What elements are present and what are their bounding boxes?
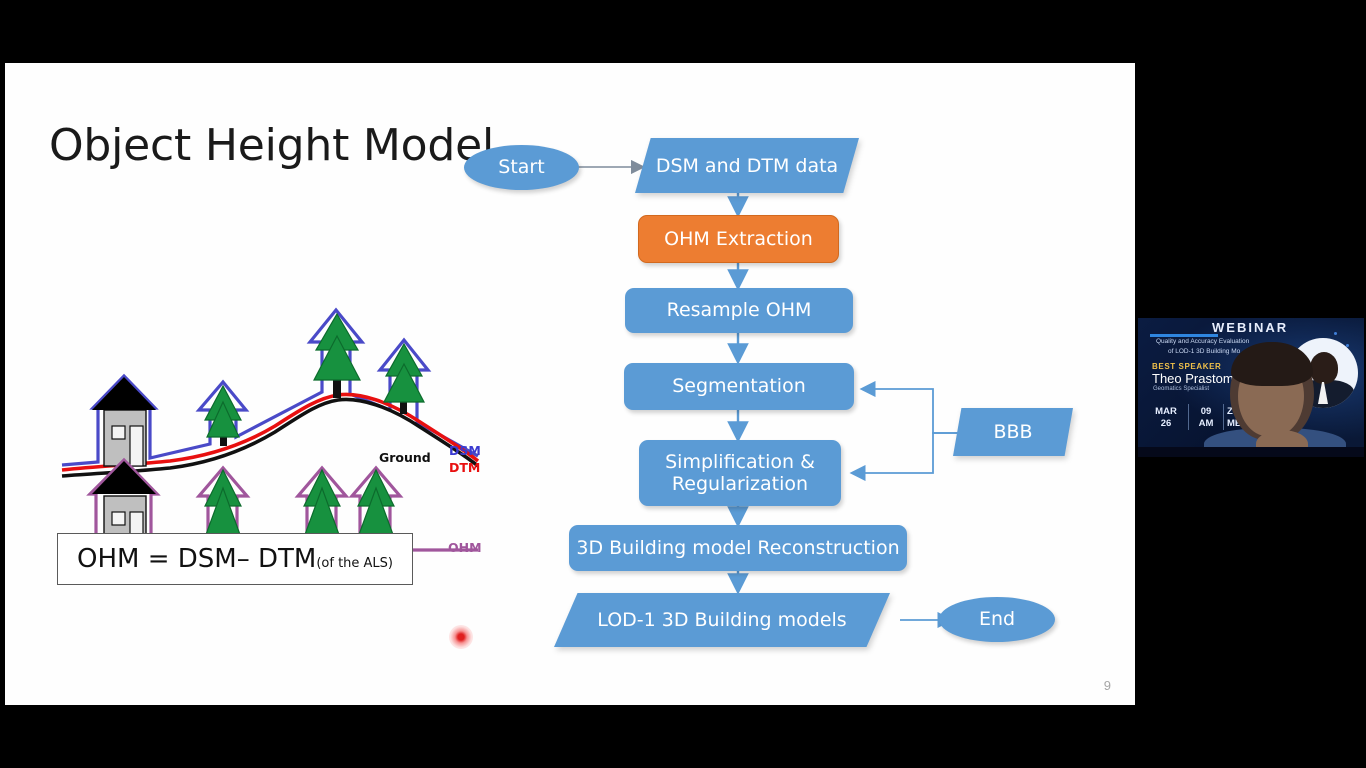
flow-node-lod1-output-label: LOD-1 3D Building models bbox=[597, 609, 846, 631]
decorative-dot-icon bbox=[1334, 332, 1337, 335]
accent-rule bbox=[1150, 334, 1218, 337]
portrait-head bbox=[1310, 352, 1338, 384]
flow-node-dsm-dtm-data-label: DSM and DTM data bbox=[656, 155, 838, 177]
presentation-slide: Object Height Model 9 bbox=[5, 63, 1135, 705]
flow-node-ohm-extraction[interactable]: OHM Extraction bbox=[638, 215, 839, 263]
flow-node-bbb-label: BBB bbox=[993, 421, 1032, 443]
flow-node-simplification-regularization[interactable]: Simplification & Regularization bbox=[639, 440, 841, 506]
flow-node-lod1-output[interactable]: LOD-1 3D Building models bbox=[554, 593, 890, 647]
screen-share-view: Object Height Model 9 bbox=[0, 0, 1366, 768]
flow-node-3d-reconstruction-label: 3D Building model Reconstruction bbox=[576, 537, 899, 559]
flow-node-resample-ohm-label: Resample OHM bbox=[667, 299, 812, 321]
flow-node-ohm-extraction-label: OHM Extraction bbox=[664, 228, 813, 250]
event-date: MAR 26 bbox=[1150, 406, 1182, 430]
webinar-title: WEBINAR bbox=[1212, 320, 1288, 335]
flow-node-bbb[interactable]: BBB bbox=[953, 408, 1073, 456]
meta-divider bbox=[1223, 404, 1224, 430]
flow-node-segmentation-label: Segmentation bbox=[672, 375, 806, 397]
flow-node-start[interactable]: Start bbox=[464, 145, 579, 190]
flow-node-start-label: Start bbox=[498, 156, 544, 178]
event-hour: 09 bbox=[1192, 406, 1220, 418]
laser-pointer-dot bbox=[449, 625, 473, 649]
flow-node-3d-reconstruction[interactable]: 3D Building model Reconstruction bbox=[569, 525, 907, 571]
processing-flowchart: Start DSM and DTM data OHM Extraction Re… bbox=[5, 63, 1135, 705]
webcam-bottom-bar bbox=[1138, 447, 1364, 457]
speaker-role: Geomatics Specialist bbox=[1153, 386, 1209, 392]
flow-node-dsm-dtm-data[interactable]: DSM and DTM data bbox=[635, 138, 859, 193]
meta-divider bbox=[1188, 404, 1189, 430]
flow-node-resample-ohm[interactable]: Resample OHM bbox=[625, 288, 853, 333]
webinar-subtitle-line2: of LOD-1 3D Building Mo bbox=[1168, 348, 1240, 355]
event-meridiem: AM bbox=[1192, 418, 1220, 430]
flow-node-end[interactable]: End bbox=[939, 597, 1055, 642]
flow-node-segmentation[interactable]: Segmentation bbox=[624, 363, 854, 410]
speaker-webcam-tile[interactable]: WEBINAR Quality and Accuracy Evaluation … bbox=[1138, 318, 1364, 457]
event-month: MAR bbox=[1150, 406, 1182, 418]
event-time: 09 AM bbox=[1192, 406, 1220, 430]
event-day: 26 bbox=[1150, 418, 1182, 430]
flow-node-simplification-line1: Simplification & bbox=[665, 451, 815, 473]
webinar-subtitle-line1: Quality and Accuracy Evaluation bbox=[1156, 338, 1249, 345]
award-badge: BEST SPEAKER bbox=[1152, 362, 1221, 371]
flow-node-end-label: End bbox=[979, 608, 1015, 630]
flow-node-simplification-line2: Regularization bbox=[672, 473, 808, 495]
